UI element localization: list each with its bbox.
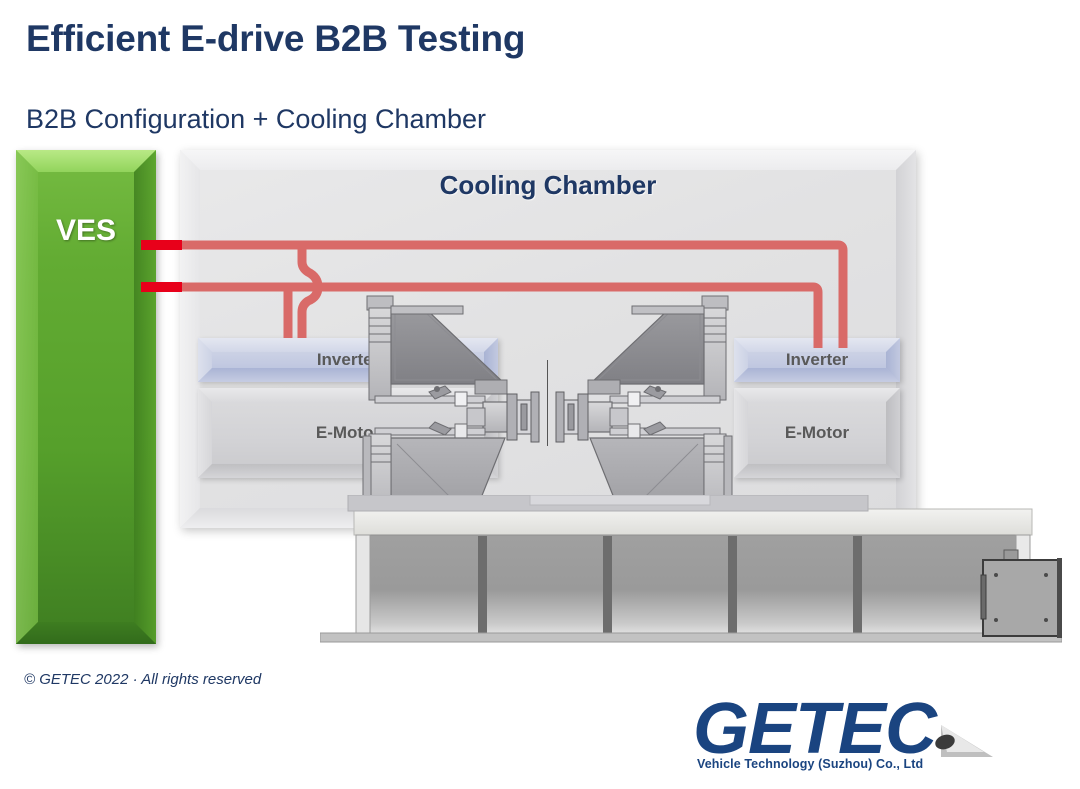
emotor-assembly-drawing [355,288,740,523]
ves-block: VES [16,150,156,644]
chamber-title: Cooling Chamber [180,170,916,201]
control-cabinet [981,550,1062,638]
inverter-block-right: Inverter [734,338,900,382]
emotor-block-right: E-Motor [734,388,900,478]
logo-tagline: Vehicle Technology (Suzhou) Co., Ltd [697,757,923,771]
copyright-text: © GETEC 2022 · All rights reserved [24,671,261,688]
slide-canvas: Efficient E-drive B2B Testing B2B Config… [0,0,1080,789]
page-subtitle: B2B Configuration + Cooling Chamber [26,104,486,135]
test-bench-base [320,495,1062,645]
logo-wing-mark [933,725,993,757]
ves-label: VES [16,150,156,644]
inverter-label-right: Inverter [734,338,900,382]
chamber-bevel-top [180,150,916,170]
emotor-label-right: E-Motor [734,388,900,478]
page-title: Efficient E-drive B2B Testing [26,18,525,60]
chamber-bevel-left [180,150,200,528]
